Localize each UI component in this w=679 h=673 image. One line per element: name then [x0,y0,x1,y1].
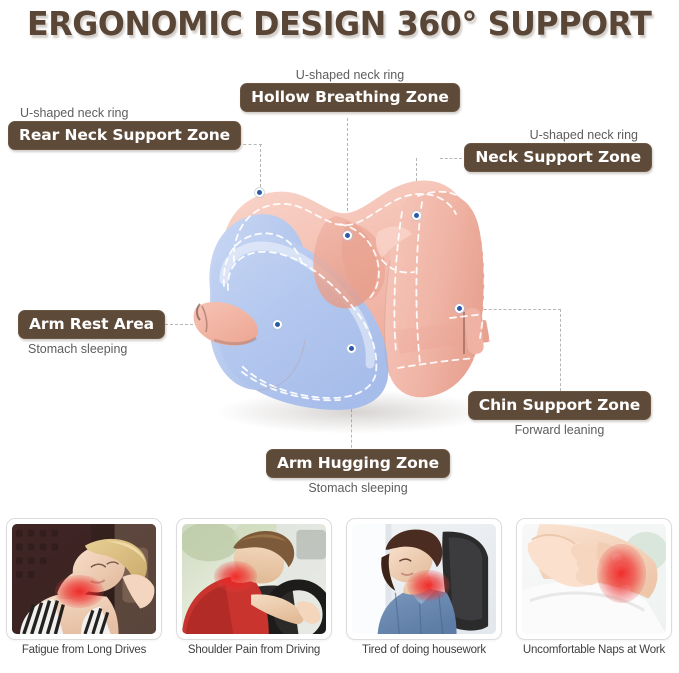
callout-hollow-breathing-sub: U-shaped neck ring [240,68,460,83]
card-tired-housework[interactable] [346,518,502,640]
page-title: ERGONOMIC DESIGN 360° SUPPORT [27,4,651,43]
caption-tired-housework: Tired of doing housework [339,644,509,656]
callout-chin-support-zone: Chin Support Zone Forward leaning [452,391,667,438]
pain-glow-neck-3 [597,544,646,603]
pain-glow-neck-2 [407,570,450,601]
callout-arm-hugging-sub: Stomach sleeping [248,481,468,496]
callout-neck-support-zone: U-shaped neck ring Neck Support Zone [440,128,652,172]
use-case-photo-row: Fatigue from Long Drives [0,518,679,673]
callout-rear-neck-sub: U-shaped neck ring [8,106,241,121]
connector-chin-support-vertical [560,309,561,391]
callout-arm-rest-label[interactable]: Arm Rest Area [18,310,165,339]
card-shoulder-pain-driving[interactable] [176,518,332,640]
callout-neck-support-label[interactable]: Neck Support Zone [464,143,652,172]
pain-glow-shoulder [214,561,257,592]
card-fatigue-long-drives[interactable] [6,518,162,640]
photo-man-on-steering-wheel [182,524,326,634]
caption-fatigue-long-drives: Fatigue from Long Drives [0,644,169,656]
marker-arm-hugging [347,344,356,353]
marker-neck-support [412,211,421,220]
marker-rear-neck [255,188,264,197]
photo-woman-sleeping-in-car [12,524,156,634]
caption-uncomfortable-naps: Uncomfortable Naps at Work [509,644,679,656]
callout-neck-support-sub: U-shaped neck ring [440,128,652,143]
caption-shoulder-pain-driving: Shoulder Pain from Driving [169,644,339,656]
photo-woman-in-office-chair [352,524,496,634]
marker-arm-rest [273,320,282,329]
callout-hollow-breathing-label[interactable]: Hollow Breathing Zone [240,83,460,112]
marker-chin-support [455,304,464,313]
callout-hollow-breathing-zone: U-shaped neck ring Hollow Breathing Zone [240,68,460,112]
photo-hand-on-sore-neck [522,524,666,634]
callout-rear-neck-label[interactable]: Rear Neck Support Zone [8,121,241,150]
card-uncomfortable-naps[interactable] [516,518,672,640]
callout-arm-hugging-label[interactable]: Arm Hugging Zone [266,449,450,478]
marker-hollow-breathing [343,231,352,240]
callout-arm-hugging-zone: Arm Hugging Zone Stomach sleeping [248,449,468,496]
page-title-banner: ERGONOMIC DESIGN 360° SUPPORT [0,0,679,46]
callout-arm-rest-area: Arm Rest Area Stomach sleeping [18,310,165,357]
callout-rear-neck-support-zone: U-shaped neck ring Rear Neck Support Zon… [8,106,241,150]
callout-arm-rest-sub: Stomach sleeping [18,342,165,357]
callout-chin-support-sub: Forward leaning [452,423,667,438]
pain-glow-neck [55,575,104,608]
callout-chin-support-label[interactable]: Chin Support Zone [468,391,651,420]
